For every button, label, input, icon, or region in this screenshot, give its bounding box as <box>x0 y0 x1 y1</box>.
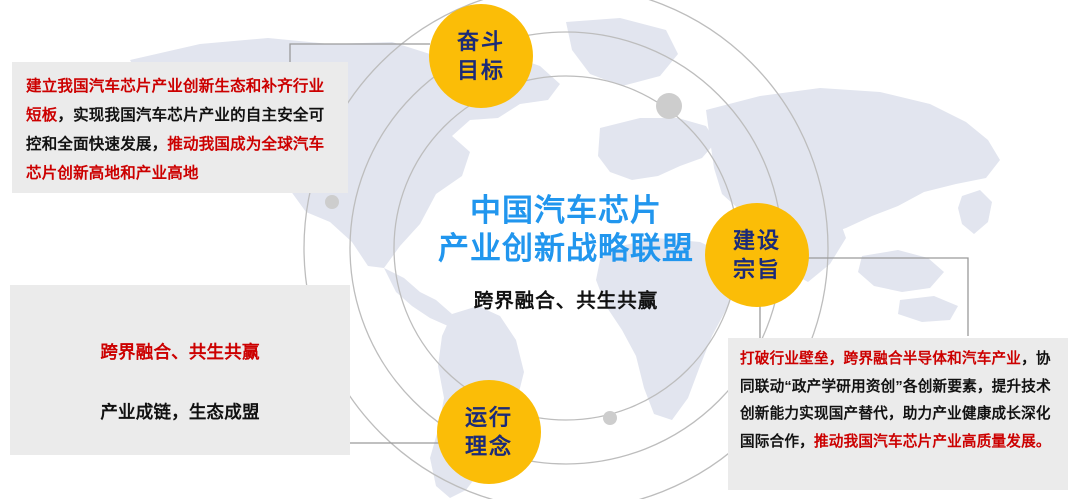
bubble-concept-line-2: 理念 <box>465 432 513 461</box>
concept-slogan-black: 产业成链，生态成盟 <box>10 397 350 427</box>
goal-text-body: 建立我国汽车芯片产业创新生态和补齐行业短板，实现我国汽车芯片产业的自主安全可控和… <box>26 72 334 188</box>
bubble-concept[interactable]: 运行 理念 <box>437 380 541 484</box>
goal-text-seg-0: 建立我国汽车芯片产业创新生态和补齐 <box>26 78 293 95</box>
concept-text-panel: 跨界融合、共生共赢 产业成链，生态成盟 <box>10 285 350 455</box>
bubble-goal[interactable]: 奋斗 目标 <box>429 4 533 108</box>
purpose-text-seg-2: 推动我国汽车芯片产业高质量发展。 <box>814 434 1051 450</box>
bubble-concept-line-1: 运行 <box>465 403 513 432</box>
goal-text-panel: 建立我国汽车芯片产业创新生态和补齐行业短板，实现我国汽车芯片产业的自主安全可控和… <box>12 62 348 193</box>
concept-slogan-red: 跨界融合、共生共赢 <box>10 337 350 367</box>
infographic-canvas: 建立我国汽车芯片产业创新生态和补齐行业短板，实现我国汽车芯片产业的自主安全可控和… <box>0 0 1080 499</box>
bubble-goal-line-2: 目标 <box>457 56 505 85</box>
purpose-text-body: 打破行业壁垒，跨界融合半导体和汽车产业，协同联动“政产学研用资创”各创新要素，提… <box>740 346 1056 456</box>
bubble-goal-line-1: 奋斗 <box>457 27 505 56</box>
bubble-purpose-line-1: 建设 <box>733 226 781 255</box>
bubble-purpose-line-2: 宗旨 <box>733 255 781 284</box>
bubble-purpose[interactable]: 建设 宗旨 <box>705 203 809 307</box>
purpose-text-seg-0: 打破行业壁垒，跨界融合半导体和汽车产业 <box>740 351 1021 367</box>
purpose-text-panel: 打破行业壁垒，跨界融合半导体和汽车产业，协同联动“政产学研用资创”各创新要素，提… <box>728 338 1068 490</box>
